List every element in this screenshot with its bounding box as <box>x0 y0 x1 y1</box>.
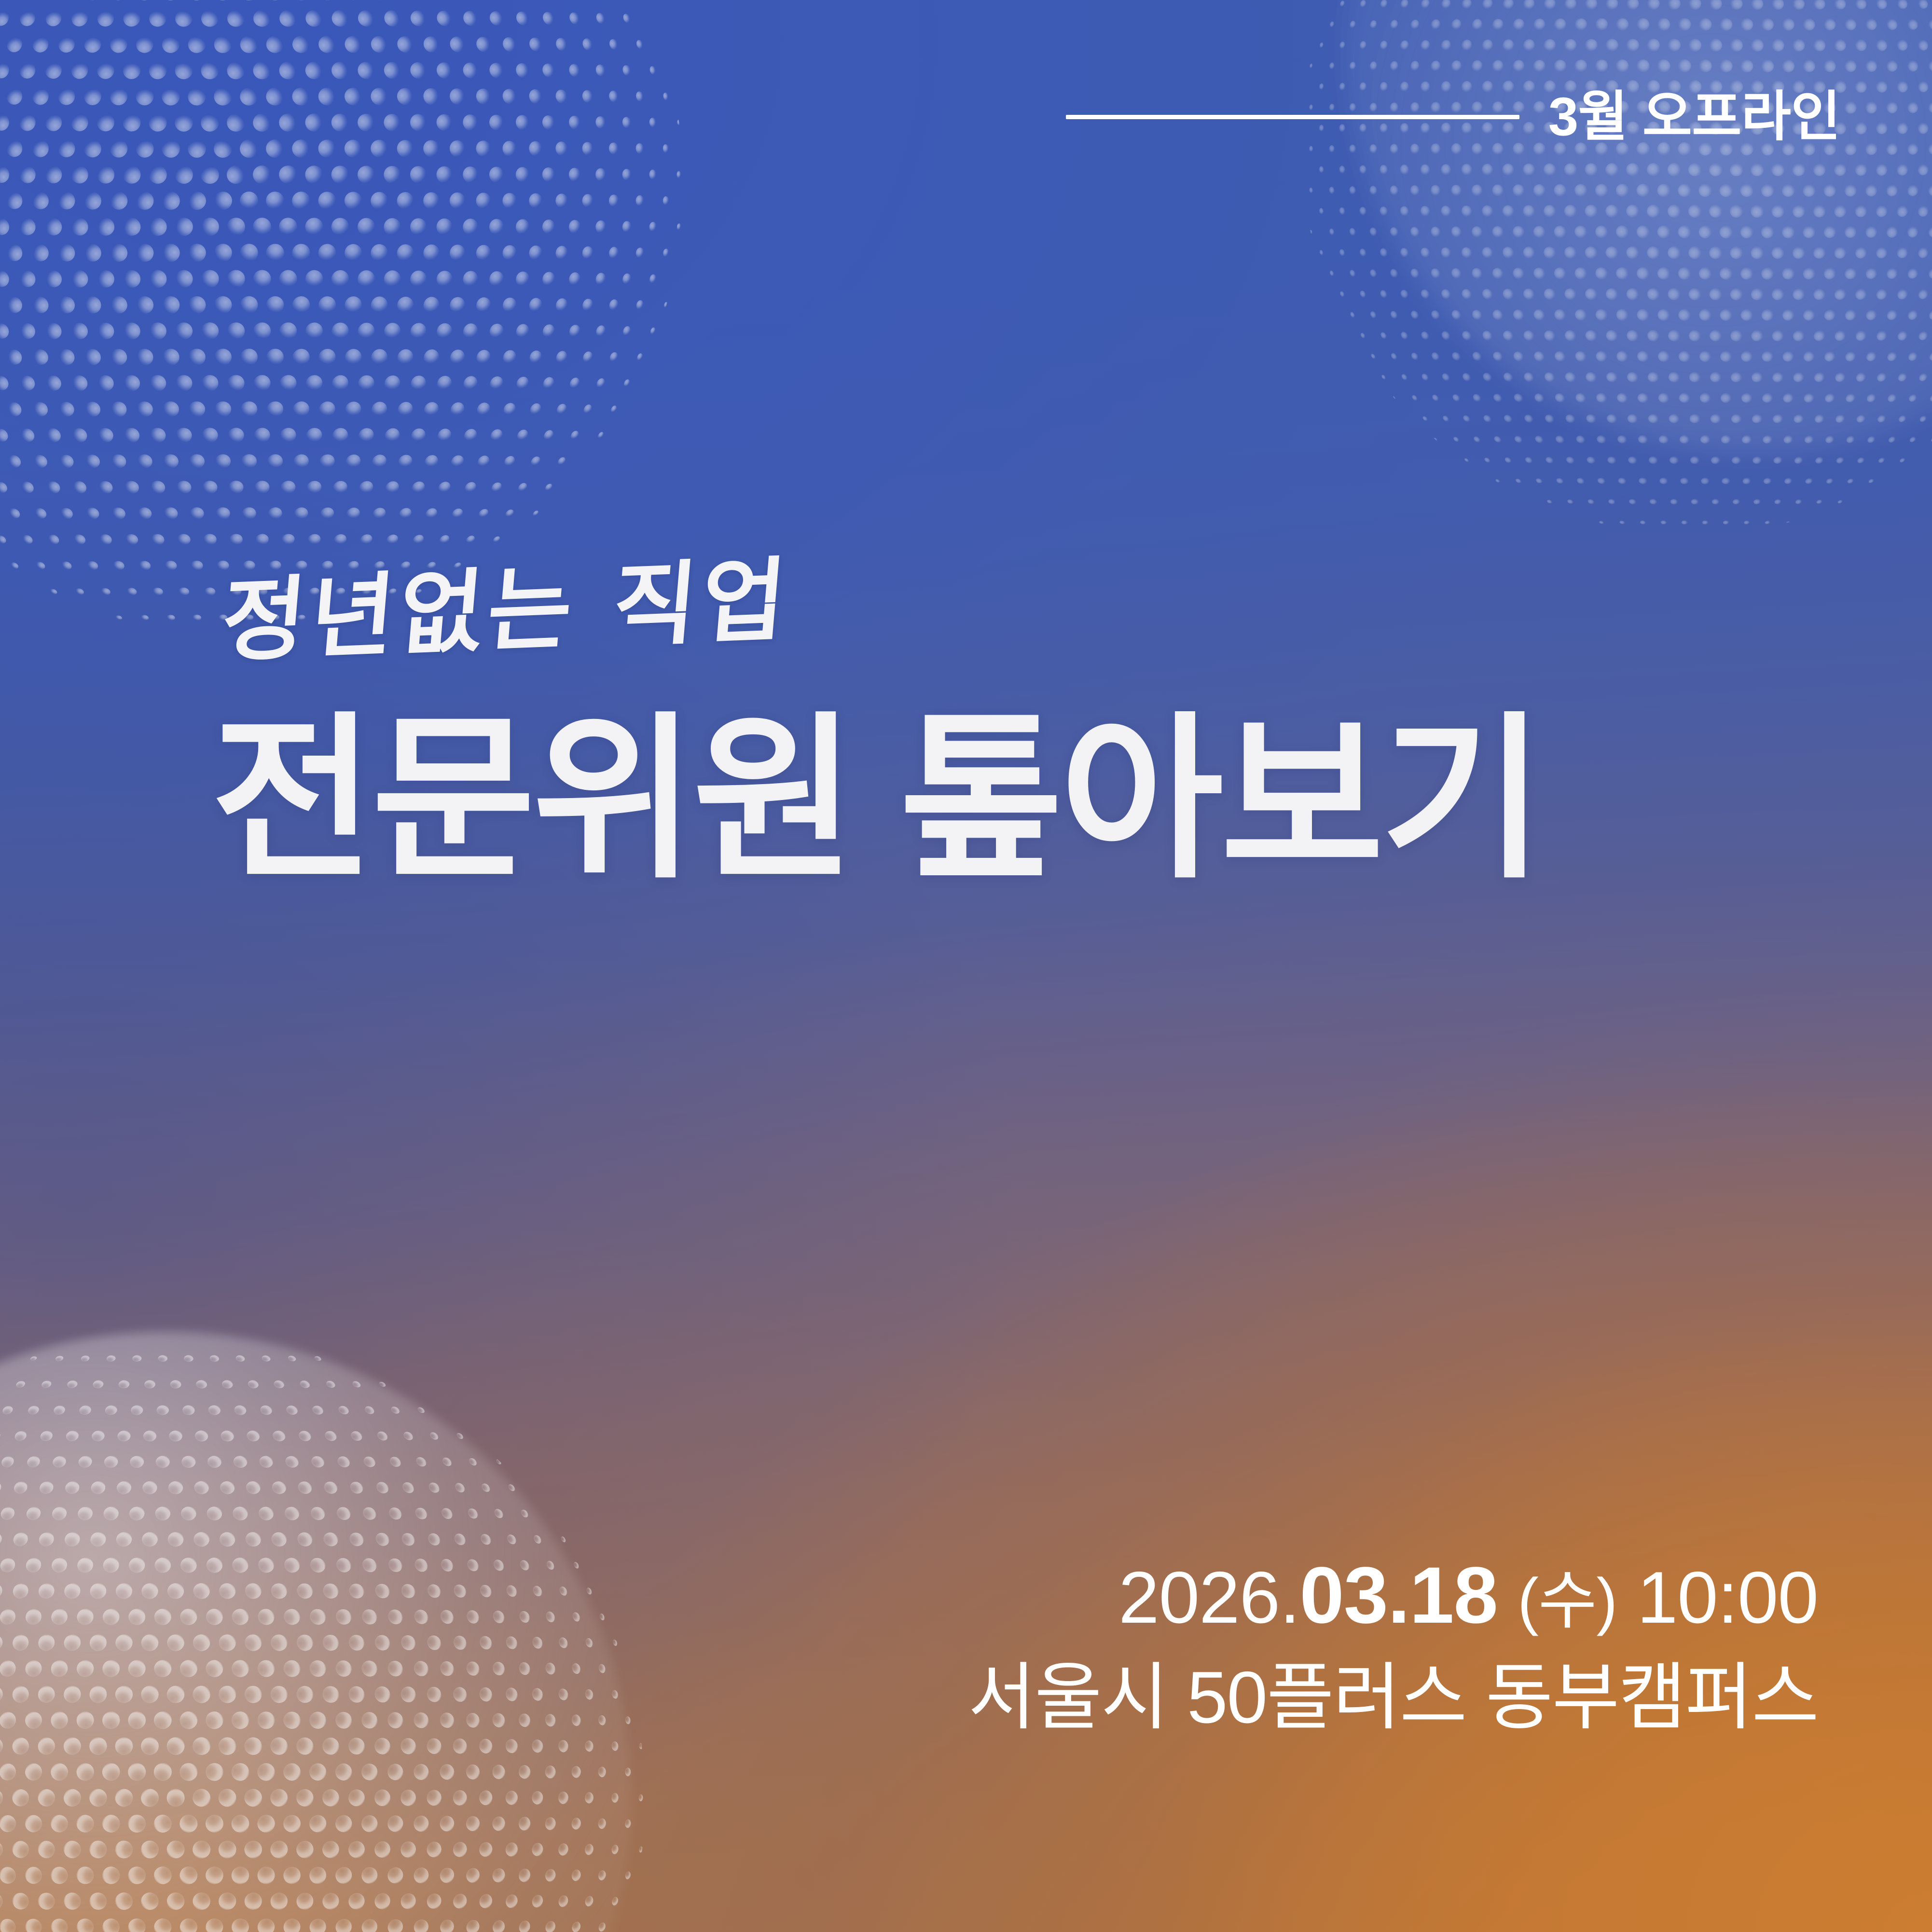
title-block: 정년없는 직업 전문위원 톺아보기 <box>222 577 1542 890</box>
event-datetime: 2026.03.18 (수) 10:00 <box>968 1549 1818 1642</box>
page-title: 전문위원 톺아보기 <box>211 709 1542 890</box>
poster-header: 3월 오프라인 <box>1066 90 1840 144</box>
date-year: 2026. <box>1118 1557 1299 1639</box>
date-weekday: (수) <box>1518 1565 1617 1636</box>
event-info: 2026.03.18 (수) 10:00 서울시 50플러스 동부캠퍼스 <box>968 1549 1818 1740</box>
header-divider-line <box>1066 115 1519 119</box>
date-time: 10:00 <box>1637 1557 1818 1639</box>
poster-canvas: 3월 오프라인 정년없는 직업 전문위원 톺아보기 2026.03.18 (수)… <box>0 0 1932 1932</box>
event-venue: 서울시 50플러스 동부캠퍼스 <box>968 1655 1818 1740</box>
date-monthday: 03.18 <box>1299 1551 1497 1640</box>
header-label: 3월 오프라인 <box>1548 90 1840 144</box>
